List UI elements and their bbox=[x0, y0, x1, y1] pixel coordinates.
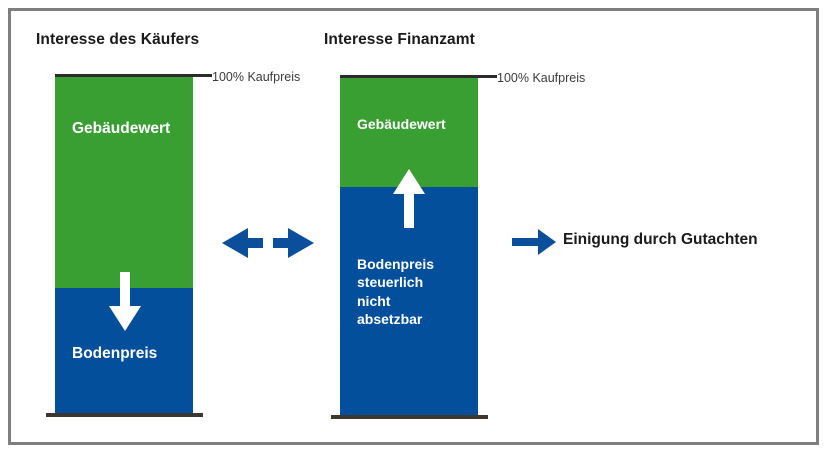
panel-title-tax-office: Interesse Finanzamt bbox=[324, 31, 475, 49]
bar-label-building-value-right: Gebäudewert bbox=[357, 115, 446, 133]
arrow-down-icon bbox=[108, 272, 142, 332]
bar-label-land-price-left: Bodenpreis bbox=[72, 344, 157, 364]
arrow-right-icon bbox=[512, 228, 556, 256]
panel-title-buyer: Interesse des Käufers bbox=[36, 31, 199, 49]
base-rule-right-bar bbox=[331, 415, 488, 419]
bar-label-land-price-right: Bodenpreis steuerlich nicht absetzbar bbox=[357, 255, 434, 329]
double-arrow-icon bbox=[222, 226, 314, 260]
axis-label-right-purchase-price: 100% Kaufpreis bbox=[497, 71, 585, 85]
bar-segment-building-value-left bbox=[55, 77, 193, 288]
diagram-canvas: Interesse des Käufers 100% Kaufpreis Geb… bbox=[0, 0, 827, 453]
bar-label-building-value-left: Gebäudewert bbox=[72, 119, 170, 139]
base-rule-left-bar bbox=[46, 413, 203, 417]
outcome-label: Einigung durch Gutachten bbox=[563, 231, 758, 249]
axis-label-left-purchase-price: 100% Kaufpreis bbox=[212, 70, 300, 84]
arrow-up-icon bbox=[392, 168, 426, 228]
